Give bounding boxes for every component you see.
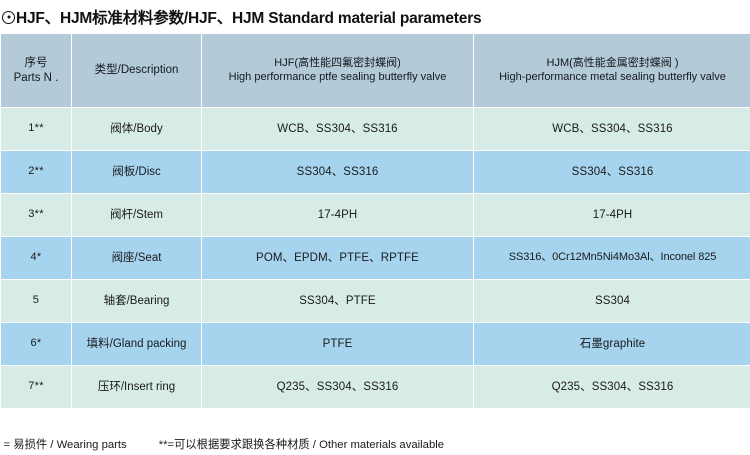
cell-hjf-material: POM、EPDM、PTFE、RPTFE — [202, 237, 473, 279]
footnote-wearing-parts: * = 易损件 / Wearing parts — [0, 436, 127, 452]
table-row: 1** 阀体/Body WCB、SS304、SS316 WCB、SS304、SS… — [1, 108, 750, 150]
material-parameters-page: HJF、HJM标准材料参数/HJF、HJM Standard material … — [0, 0, 750, 455]
cell-parts-no: 2** — [1, 151, 71, 193]
table-row: 6* 填料/Gland packing PTFE 石墨graphite — [1, 323, 750, 365]
column-header-hjf: HJF(高性能四氟密封蝶阀) High performance ptfe sea… — [202, 34, 473, 107]
column-header-hjm-en: High-performance metal sealing butterfly… — [478, 71, 747, 85]
page-title-text: HJF、HJM标准材料参数/HJF、HJM Standard material … — [16, 6, 481, 28]
cell-hjf-material: WCB、SS304、SS316 — [202, 108, 473, 150]
cell-hjm-material: 17-4PH — [474, 194, 750, 236]
footnote: * = 易损件 / Wearing parts **=可以根据要求跟换各种材质 … — [0, 433, 750, 455]
cell-hjm-material: 石墨graphite — [474, 323, 750, 365]
column-header-hjm: HJM(高性能金属密封蝶阀 ) High-performance metal s… — [474, 34, 750, 107]
table-row: 2** 阀板/Disc SS304、SS316 SS304、SS316 — [1, 151, 750, 193]
cell-description: 压环/Insert ring — [72, 366, 201, 408]
cell-parts-no: 6* — [1, 323, 71, 365]
table-row: 5 轴套/Bearing SS304、PTFE SS304 — [1, 280, 750, 322]
cell-parts-no: 7** — [1, 366, 71, 408]
cell-hjm-material: SS304 — [474, 280, 750, 322]
cell-hjm-material: SS304、SS316 — [474, 151, 750, 193]
cell-hjf-material: SS304、PTFE — [202, 280, 473, 322]
column-header-hjm-cn: HJM(高性能金属密封蝶阀 ) — [478, 57, 747, 71]
column-header-parts-no-cn: 序号 — [5, 56, 67, 70]
cell-hjf-material: SS304、SS316 — [202, 151, 473, 193]
cell-hjm-material: Q235、SS304、SS316 — [474, 366, 750, 408]
cell-description: 阀体/Body — [72, 108, 201, 150]
column-header-hjf-cn: HJF(高性能四氟密封蝶阀) — [206, 57, 469, 71]
table-row: 3** 阀杆/Stem 17-4PH 17-4PH — [1, 194, 750, 236]
cell-hjm-material: SS316、0Cr12Mn5Ni4Mo3Al、Inconel 825 — [474, 237, 750, 279]
footnote-other-materials: **=可以根据要求跟换各种材质 / Other materials availa… — [159, 436, 444, 452]
cell-description: 轴套/Bearing — [72, 280, 201, 322]
cell-hjf-material: 17-4PH — [202, 194, 473, 236]
cell-hjm-material: WCB、SS304、SS316 — [474, 108, 750, 150]
cell-description: 填料/Gland packing — [72, 323, 201, 365]
column-header-description-label: 类型/Description — [76, 63, 197, 77]
cell-description: 阀座/Seat — [72, 237, 201, 279]
column-header-description: 类型/Description — [72, 34, 201, 107]
cell-hjf-material: PTFE — [202, 323, 473, 365]
cell-description: 阀杆/Stem — [72, 194, 201, 236]
column-header-hjf-en: High performance ptfe sealing butterfly … — [206, 71, 469, 85]
cell-parts-no: 1** — [1, 108, 71, 150]
circle-dot-icon — [2, 11, 15, 24]
standard-material-parameters-table: 序号 Parts N . 类型/Description HJF(高性能四氟密封蝶… — [0, 33, 750, 409]
cell-parts-no: 3** — [1, 194, 71, 236]
table-body: 1** 阀体/Body WCB、SS304、SS316 WCB、SS304、SS… — [1, 108, 750, 408]
table-row: 4* 阀座/Seat POM、EPDM、PTFE、RPTFE SS316、0Cr… — [1, 237, 750, 279]
table-row: 7** 压环/Insert ring Q235、SS304、SS316 Q235… — [1, 366, 750, 408]
cell-parts-no: 4* — [1, 237, 71, 279]
column-header-parts-no-en: Parts N . — [5, 71, 67, 85]
cell-parts-no: 5 — [1, 280, 71, 322]
page-title: HJF、HJM标准材料参数/HJF、HJM Standard material … — [0, 0, 750, 33]
column-header-parts-no: 序号 Parts N . — [1, 34, 71, 107]
table-header-row: 序号 Parts N . 类型/Description HJF(高性能四氟密封蝶… — [1, 34, 750, 107]
cell-description: 阀板/Disc — [72, 151, 201, 193]
table-header: 序号 Parts N . 类型/Description HJF(高性能四氟密封蝶… — [1, 34, 750, 107]
cell-hjf-material: Q235、SS304、SS316 — [202, 366, 473, 408]
